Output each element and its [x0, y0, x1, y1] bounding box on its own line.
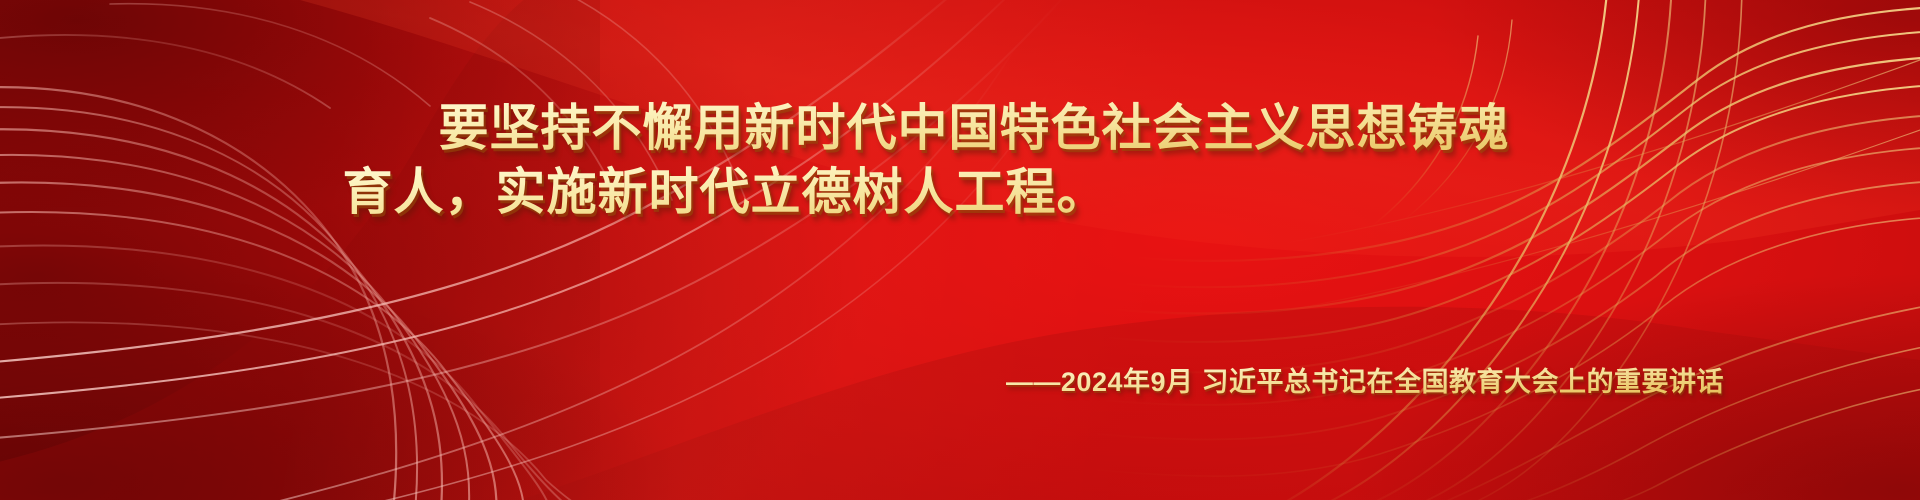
- banner-content: 要坚持不懈用新时代中国特色社会主义思想铸魂 育人，实施新时代立德树人工程。 ——…: [0, 0, 1920, 500]
- headline-line-1: 要坚持不懈用新时代中国特色社会主义思想铸魂: [0, 96, 1920, 160]
- banner-root: 要坚持不懈用新时代中国特色社会主义思想铸魂 育人，实施新时代立德树人工程。 ——…: [0, 0, 1920, 500]
- attribution-text: ——2024年9月 习近平总书记在全国教育大会上的重要讲话: [1006, 360, 1724, 399]
- headline-line-2: 育人，实施新时代立德树人工程。: [0, 160, 1920, 224]
- headline-block: 要坚持不懈用新时代中国特色社会主义思想铸魂 育人，实施新时代立德树人工程。: [0, 96, 1920, 224]
